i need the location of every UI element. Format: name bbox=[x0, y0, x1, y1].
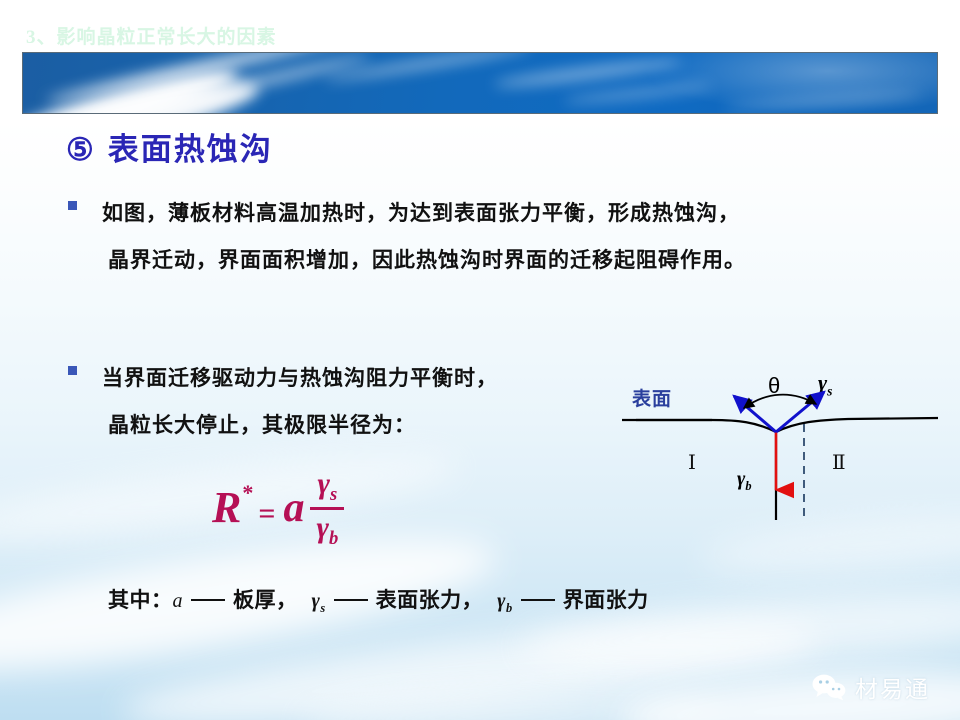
formula-legend: 其中： a 板厚， γs 表面张力， γb 界面张力 bbox=[108, 584, 649, 616]
bullet-paragraph-1: 如图，薄板材料高温加热时，为达到表面张力平衡，形成热蚀沟， 晶界迁动，界面面积增… bbox=[68, 190, 746, 284]
legend-dash bbox=[521, 599, 555, 601]
formula-numerator: γs bbox=[311, 469, 343, 507]
bullet-1-line-2: 晶界迁动，界面面积增加，因此热蚀沟时界面的迁移起阻碍作用。 bbox=[102, 237, 746, 284]
legend-meaning-gamma-s: 表面张力， bbox=[376, 584, 484, 614]
legend-gamma-s-glyph: γ bbox=[312, 590, 321, 612]
formula-denominator: γb bbox=[310, 510, 344, 549]
formula-coefficient: a bbox=[283, 484, 304, 532]
legend-dash bbox=[334, 599, 368, 601]
legend-gamma-b-sub: b bbox=[506, 601, 513, 615]
formula-denominator-symbol: γ bbox=[316, 511, 328, 544]
formula-lhs: R* bbox=[212, 482, 252, 533]
legend-meaning-gamma-b: 界面张力 bbox=[563, 584, 649, 614]
legend-symbol-a: a bbox=[173, 590, 184, 613]
bullet-2-line-2: 晶粒长大停止，其极限半径为： bbox=[102, 402, 498, 449]
formula-lhs-letter: R bbox=[212, 483, 241, 532]
banner-image bbox=[22, 52, 938, 114]
bullet-2-line-1: 当界面迁移驱动力与热蚀沟阻力平衡时， bbox=[102, 366, 498, 390]
formula-fraction: γs γb bbox=[310, 469, 344, 548]
watermark-text: 材易通 bbox=[855, 670, 930, 704]
diagram-gamma-s-arrow-right bbox=[776, 392, 824, 432]
legend-gamma-b-glyph: γ bbox=[497, 590, 506, 612]
formula-equals: = bbox=[258, 497, 275, 531]
title-text: 表面热蚀沟 bbox=[108, 132, 273, 167]
formula-superscript: * bbox=[242, 480, 253, 505]
legend-dash bbox=[191, 599, 225, 601]
formula-numerator-subscript: s bbox=[330, 484, 337, 505]
bullet-text-1: 如图，薄板材料高温加热时，为达到表面张力平衡，形成热蚀沟， 晶界迁动，界面面积增… bbox=[102, 190, 746, 284]
diagram-svg bbox=[620, 368, 940, 528]
banner-cloud bbox=[493, 55, 683, 90]
bullet-paragraph-2: 当界面迁移驱动力与热蚀沟阻力平衡时， 晶粒长大停止，其极限半径为： bbox=[68, 355, 498, 449]
legend-gamma-s-sub: s bbox=[320, 601, 325, 615]
main-formula: R* = a γs γb bbox=[212, 468, 344, 547]
page-title: ⑤表面热蚀沟 bbox=[66, 124, 273, 169]
running-header-title: 3、影响晶粒正常长大的因素 bbox=[26, 22, 277, 49]
legend-meaning-a: 板厚， bbox=[233, 584, 298, 614]
formula-denominator-subscript: b bbox=[329, 528, 338, 549]
slide-canvas: 3、影响晶粒正常长大的因素 ⑤表面热蚀沟 如图，薄板材料高温加热时，为达到表面张… bbox=[0, 0, 960, 720]
banner-cloud bbox=[723, 90, 923, 112]
square-bullet-icon bbox=[68, 366, 77, 375]
banner-cloud bbox=[563, 81, 713, 106]
bullet-1-line-1: 如图，薄板材料高温加热时，为达到表面张力平衡，形成热蚀沟， bbox=[102, 201, 740, 225]
wechat-icon bbox=[812, 674, 846, 701]
title-number-glyph: ⑤ bbox=[66, 132, 96, 167]
watermark: 材易通 bbox=[812, 670, 930, 704]
square-bullet-icon bbox=[68, 201, 77, 210]
thermal-groove-diagram: 表面 θ γs γb Ⅰ Ⅱ bbox=[620, 368, 940, 528]
formula-numerator-symbol: γ bbox=[317, 467, 329, 500]
legend-symbol-gamma-s: γs bbox=[312, 590, 326, 616]
bullet-text-2: 当界面迁移驱动力与热蚀沟阻力平衡时， 晶粒长大停止，其极限半径为： bbox=[102, 355, 498, 449]
legend-symbol-gamma-b: γb bbox=[497, 590, 513, 616]
legend-prefix: 其中： bbox=[108, 584, 173, 614]
